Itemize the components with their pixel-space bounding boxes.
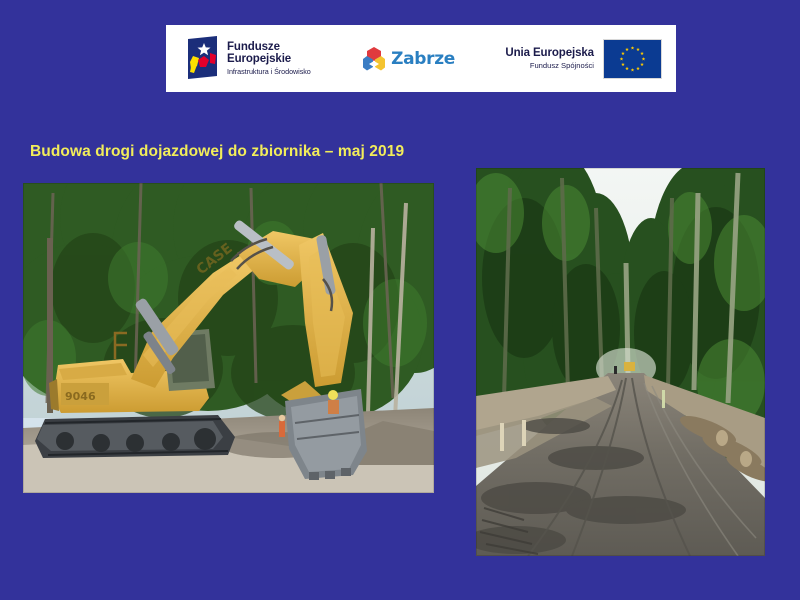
worker-figure (328, 390, 339, 414)
eu-flag-icon (603, 39, 662, 79)
logo-unia-europejska: Unia Europejska Fundusz Spójności (505, 39, 662, 79)
photo-forest-road (476, 168, 765, 556)
zabrze-icon (361, 46, 387, 72)
slide-canvas: Fundusze Europejskie Infrastruktura i Śr… (0, 0, 800, 600)
photo-forest-road-image (476, 168, 765, 556)
fundusze-europejskie-text: Fundusze Europejskie Infrastruktura i Śr… (227, 42, 311, 75)
logo-fundusze-europejskie: Fundusze Europejskie Infrastruktura i Śr… (184, 36, 311, 81)
fe-subtitle: Infrastruktura i Środowisko (227, 68, 311, 75)
zabrze-wordmark: Zabrze (391, 49, 455, 69)
photo-excavator: 9046 CASE (23, 183, 434, 493)
ue-title: Unia Europejska (505, 47, 594, 60)
fundusze-europejskie-icon (184, 36, 220, 81)
logo-banner: Fundusze Europejskie Infrastruktura i Śr… (166, 25, 676, 92)
fe-title-line2: Europejskie (227, 54, 311, 66)
svg-text:9046: 9046 (65, 390, 96, 403)
unia-europejska-text: Unia Europejska Fundusz Spójności (505, 47, 594, 71)
photo-excavator-image: 9046 CASE (23, 183, 434, 493)
ue-subtitle: Fundusz Spójności (505, 62, 594, 71)
page-title: Budowa drogi dojazdowej do zbiornika – m… (30, 143, 404, 161)
logo-zabrze: Zabrze (361, 46, 455, 72)
